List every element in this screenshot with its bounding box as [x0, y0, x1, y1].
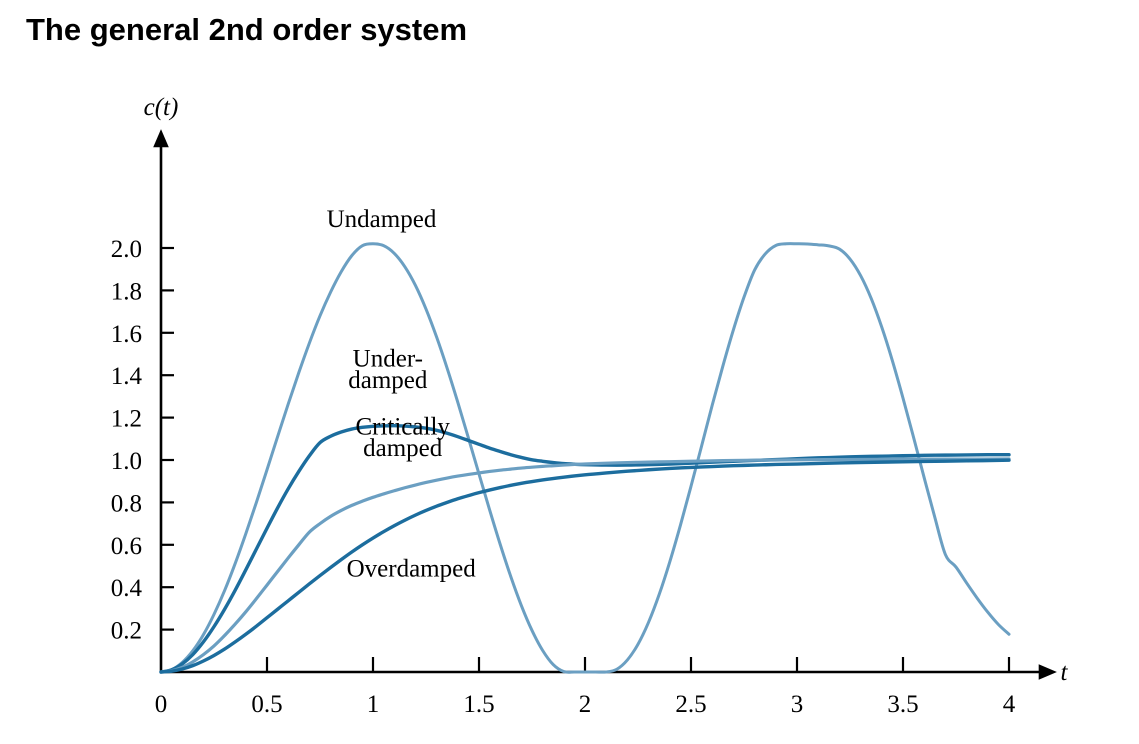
- y-tick-label: 0.6: [111, 533, 142, 560]
- y-tick-label: 1.4: [111, 363, 143, 390]
- y-axis-label: c(t): [144, 94, 179, 121]
- curve-label: Overdamped: [347, 556, 477, 583]
- y-tick-label: 1.0: [111, 448, 142, 475]
- y-axis-ticks: 0.20.40.60.81.01.21.41.61.82.0: [111, 236, 174, 645]
- x-tick-label: 2: [579, 691, 592, 718]
- x-axis-label: t: [1061, 659, 1069, 686]
- curve-label: damped: [363, 435, 443, 462]
- y-tick-label: 0.8: [111, 490, 142, 517]
- x-tick-label: 3.5: [887, 691, 918, 718]
- x-axis-ticks: 00.511.522.533.54: [155, 657, 1016, 718]
- second-order-step-response-chart: 0.20.40.60.81.01.21.41.61.82.0 00.511.52…: [0, 60, 1139, 744]
- x-tick-label: 2.5: [675, 691, 706, 718]
- x-tick-label: 4: [1003, 691, 1016, 718]
- axes: [161, 146, 1040, 672]
- x-tick-label: 0.5: [251, 691, 282, 718]
- chart-canvas: 0.20.40.60.81.01.21.41.61.82.0 00.511.52…: [0, 60, 1139, 744]
- y-tick-label: 1.8: [111, 278, 142, 305]
- curve-label: damped: [348, 367, 428, 394]
- y-tick-label: 1.6: [111, 321, 142, 348]
- x-tick-label: 0: [155, 691, 168, 718]
- x-tick-label: 3: [791, 691, 804, 718]
- data-curves: [161, 244, 1009, 673]
- y-tick-label: 2.0: [111, 236, 142, 263]
- page-title: The general 2nd order system: [26, 12, 467, 48]
- y-tick-label: 1.2: [111, 406, 142, 433]
- y-tick-label: 0.2: [111, 618, 142, 645]
- y-tick-label: 0.4: [111, 575, 143, 602]
- curve-label: Undamped: [327, 206, 437, 233]
- x-tick-label: 1: [367, 691, 380, 718]
- x-tick-label: 1.5: [463, 691, 494, 718]
